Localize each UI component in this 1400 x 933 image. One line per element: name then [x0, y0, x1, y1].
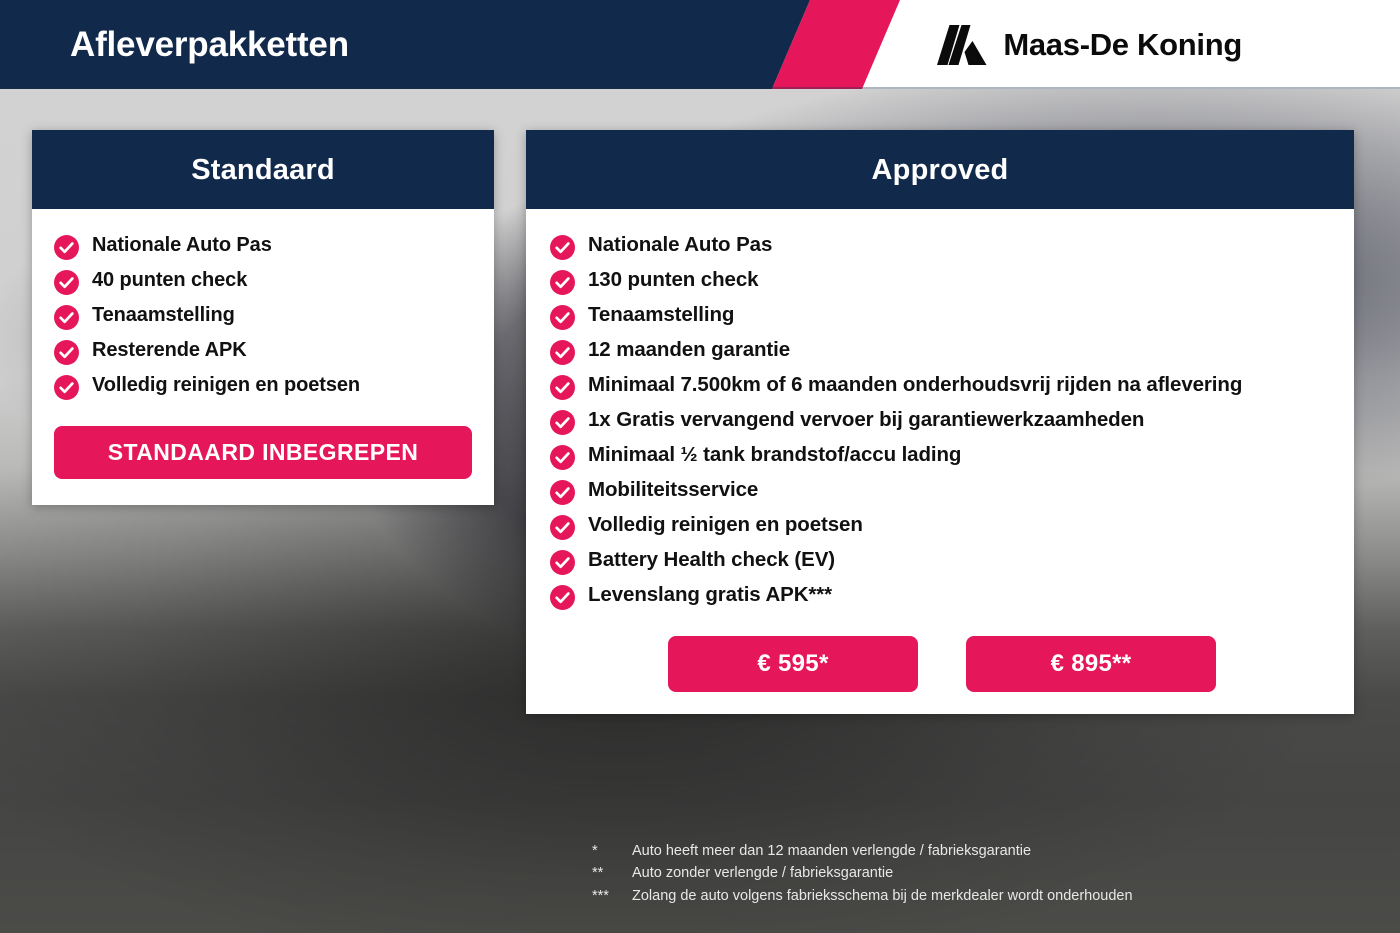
list-item: Tenaamstelling: [550, 301, 1334, 330]
feature-label: Volledig reinigen en poetsen: [588, 511, 863, 540]
feature-label: 40 punten check: [92, 266, 247, 294]
check-circle-icon: [550, 301, 575, 330]
feature-label: Mobiliteitsservice: [588, 476, 758, 505]
feature-label: Minimaal ½ tank brandstof/accu lading: [588, 441, 961, 470]
check-circle-icon: [550, 546, 575, 575]
check-circle-icon: [550, 371, 575, 400]
footnote-text: Zolang de auto volgens fabrieksschema bi…: [632, 885, 1352, 907]
feature-label: 130 punten check: [588, 266, 758, 295]
feature-label: Tenaamstelling: [588, 301, 734, 330]
check-circle-icon: [54, 231, 79, 260]
list-item: Minimaal 7.500km of 6 maanden onderhouds…: [550, 371, 1334, 400]
package-card-approved: Approved Nationale Auto Pas: [526, 130, 1354, 714]
footnote-3: *** Zolang de auto volgens fabrieksschem…: [592, 885, 1352, 907]
page-title: Afleverpakketten: [70, 0, 349, 89]
footnote-text: Auto heeft meer dan 12 maanden verlengde…: [632, 840, 1352, 862]
feature-label: Battery Health check (EV): [588, 546, 835, 575]
feature-list-standaard: Nationale Auto Pas 40 punten check: [54, 231, 474, 400]
price-button-595[interactable]: € 595*: [668, 636, 918, 692]
check-circle-icon: [550, 476, 575, 505]
price-button-895[interactable]: € 895**: [966, 636, 1216, 692]
check-circle-icon: [54, 371, 79, 400]
footnotes-block: * Auto heeft meer dan 12 maanden verleng…: [592, 840, 1352, 907]
feature-label: Nationale Auto Pas: [92, 231, 272, 259]
package-title-standaard: Standaard: [32, 130, 494, 209]
list-item: Battery Health check (EV): [550, 546, 1334, 575]
check-circle-icon: [550, 441, 575, 470]
feature-label: 12 maanden garantie: [588, 336, 790, 365]
list-item: 40 punten check: [54, 266, 474, 295]
list-item: Nationale Auto Pas: [550, 231, 1334, 260]
check-circle-icon: [550, 406, 575, 435]
footnote-marker: *: [592, 840, 632, 862]
standaard-inbegrepen-button[interactable]: STANDAARD INBEGREPEN: [54, 426, 472, 479]
page-header: Afleverpakketten Maas-De Koning: [0, 0, 1400, 89]
approved-price-row: € 595* € 895**: [550, 636, 1334, 692]
list-item: Volledig reinigen en poetsen: [54, 371, 474, 400]
maas-de-koning-logo-icon: [937, 25, 987, 65]
check-circle-icon: [550, 266, 575, 295]
list-item: 1x Gratis vervangend vervoer bij garanti…: [550, 406, 1334, 435]
footnote-text: Auto zonder verlengde / fabrieksgarantie: [632, 862, 1352, 884]
feature-list-approved: Nationale Auto Pas 130 punten check: [550, 231, 1334, 610]
check-circle-icon: [54, 266, 79, 295]
feature-label: Levenslang gratis APK***: [588, 581, 832, 610]
package-body-standaard: Nationale Auto Pas 40 punten check: [32, 209, 494, 505]
check-circle-icon: [550, 511, 575, 540]
footnote-marker: ***: [592, 885, 632, 907]
feature-label: 1x Gratis vervangend vervoer bij garanti…: [588, 406, 1144, 435]
packages-container: Standaard Nationale Auto Pas: [0, 0, 1400, 933]
list-item: Resterende APK: [54, 336, 474, 365]
package-title-approved: Approved: [526, 130, 1354, 209]
check-circle-icon: [550, 336, 575, 365]
list-item: Mobiliteitsservice: [550, 476, 1334, 505]
standaard-button-row: STANDAARD INBEGREPEN: [54, 426, 474, 479]
check-circle-icon: [550, 231, 575, 260]
footnote-2: ** Auto zonder verlengde / fabrieksgaran…: [592, 862, 1352, 884]
page-root: Afleverpakketten Maas-De Koning Standaar…: [0, 0, 1400, 933]
brand-name: Maas-De Koning: [1003, 27, 1242, 63]
brand-lockup: Maas-De Koning: [937, 0, 1242, 89]
check-circle-icon: [54, 336, 79, 365]
feature-label: Resterende APK: [92, 336, 247, 364]
list-item: Levenslang gratis APK***: [550, 581, 1334, 610]
package-card-standaard: Standaard Nationale Auto Pas: [32, 130, 494, 505]
list-item: Minimaal ½ tank brandstof/accu lading: [550, 441, 1334, 470]
feature-label: Nationale Auto Pas: [588, 231, 772, 260]
feature-label: Volledig reinigen en poetsen: [92, 371, 360, 399]
list-item: Volledig reinigen en poetsen: [550, 511, 1334, 540]
feature-label: Tenaamstelling: [92, 301, 235, 329]
check-circle-icon: [550, 581, 575, 610]
check-circle-icon: [54, 301, 79, 330]
footnote-marker: **: [592, 862, 632, 884]
list-item: Tenaamstelling: [54, 301, 474, 330]
list-item: 12 maanden garantie: [550, 336, 1334, 365]
feature-label: Minimaal 7.500km of 6 maanden onderhouds…: [588, 371, 1242, 400]
package-body-approved: Nationale Auto Pas 130 punten check: [526, 209, 1354, 714]
list-item: 130 punten check: [550, 266, 1334, 295]
footnote-1: * Auto heeft meer dan 12 maanden verleng…: [592, 840, 1352, 862]
list-item: Nationale Auto Pas: [54, 231, 474, 260]
